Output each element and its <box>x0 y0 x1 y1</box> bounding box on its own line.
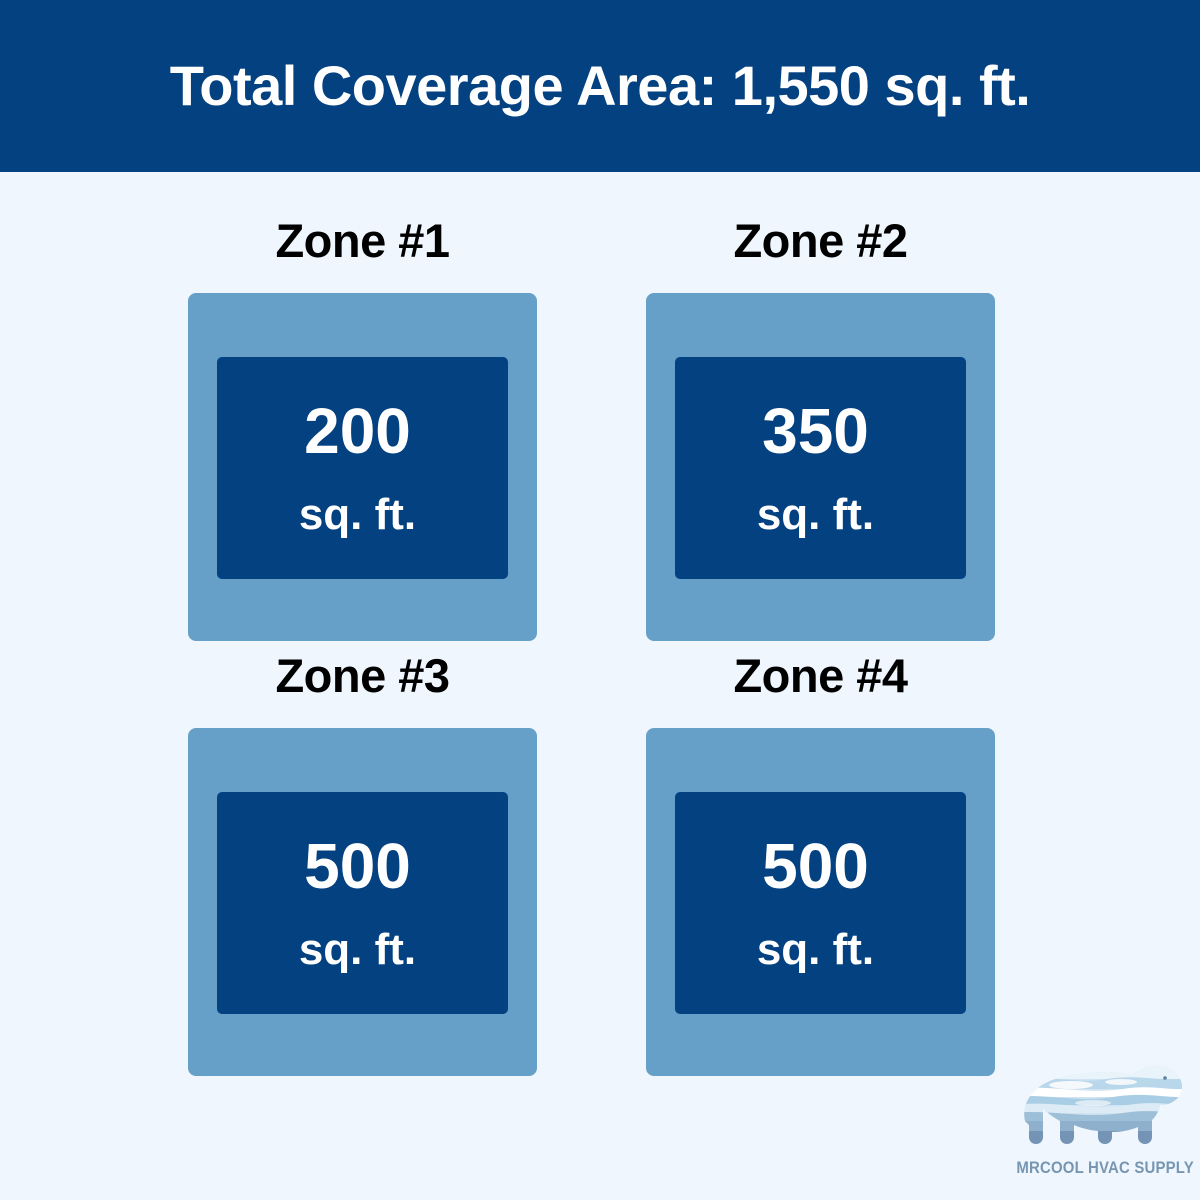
brand-logo-text: MRCOOL HVAC SUPPLY <box>1016 1158 1183 1178</box>
zone-inner-box-3: 500 sq. ft. <box>217 792 508 1014</box>
zone-label-2: Zone #2 <box>646 217 995 267</box>
zone-card-1: Zone #1 200 sq. ft. <box>188 217 646 641</box>
zone-value-4: 500 <box>762 834 869 898</box>
zone-label-4: Zone #4 <box>646 652 995 702</box>
zone-inner-box-4: 500 sq. ft. <box>675 792 966 1014</box>
zone-inner-box-1: 200 sq. ft. <box>217 357 508 579</box>
zone-label-3: Zone #3 <box>188 652 537 702</box>
zone-unit-4: sq. ft. <box>757 928 874 972</box>
zone-label-1: Zone #1 <box>188 217 537 267</box>
zone-outer-square-3: 500 sq. ft. <box>188 728 537 1076</box>
header-banner: Total Coverage Area: 1,550 sq. ft. <box>0 0 1200 172</box>
zone-outer-square-4: 500 sq. ft. <box>646 728 995 1076</box>
zone-card-2: Zone #2 350 sq. ft. <box>646 217 1104 641</box>
zone-outer-square-1: 200 sq. ft. <box>188 293 537 641</box>
zone-unit-2: sq. ft. <box>757 493 874 537</box>
polar-bear-icon <box>1013 1045 1188 1157</box>
page-title: Total Coverage Area: 1,550 sq. ft. <box>170 58 1031 114</box>
zone-unit-3: sq. ft. <box>299 928 416 972</box>
zone-unit-1: sq. ft. <box>299 493 416 537</box>
zone-card-4: Zone #4 500 sq. ft. <box>646 652 1104 1076</box>
zone-value-3: 500 <box>304 834 411 898</box>
zone-value-2: 350 <box>762 399 869 463</box>
zone-card-3: Zone #3 500 sq. ft. <box>188 652 646 1076</box>
zone-outer-square-2: 350 sq. ft. <box>646 293 995 641</box>
zone-value-1: 200 <box>304 399 411 463</box>
zone-inner-box-2: 350 sq. ft. <box>675 357 966 579</box>
brand-logo: MRCOOL HVAC SUPPLY <box>1005 1045 1195 1195</box>
